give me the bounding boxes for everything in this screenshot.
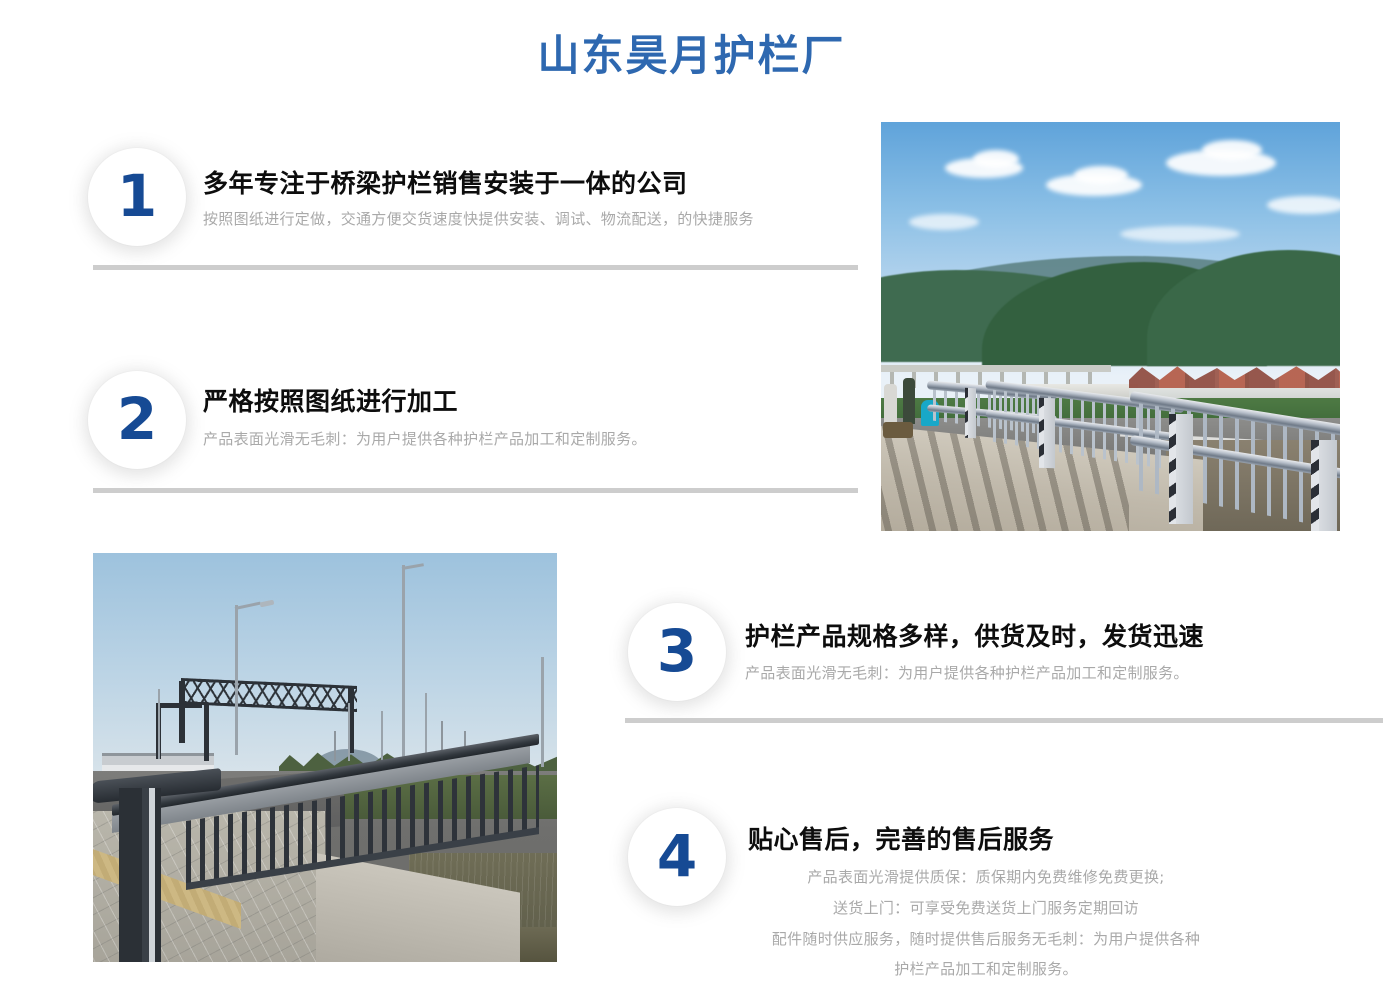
page-title: 山东昊月护栏厂 (0, 31, 1383, 81)
feature-badge-3: 3 (628, 603, 726, 701)
rail-post (965, 388, 976, 438)
person-figure (884, 384, 897, 424)
post-chevron-stripe (1311, 440, 1319, 531)
gantry-cross-brace (158, 703, 202, 708)
feature-badge-4: 4 (628, 808, 726, 906)
cloud-shape (1267, 196, 1340, 214)
street-lamp-pole (235, 605, 238, 755)
poster-root: 山东昊月护栏厂 (0, 0, 1383, 1000)
street-lamp-pole (425, 693, 427, 757)
railing-end-post (119, 788, 161, 962)
street-lamp-pole (158, 689, 160, 759)
feature-description-line: 护栏产品加工和定制服务。 (738, 954, 1234, 985)
gantry-leg (179, 681, 185, 743)
feature-number-4: 4 (657, 827, 697, 885)
person-figure (903, 378, 915, 424)
feature-headline-4: 贴心售后，完善的售后服务 (748, 820, 1054, 856)
feature-number-1: 1 (117, 167, 157, 225)
feature-number-3: 3 (657, 622, 697, 680)
street-lamp-pole (381, 711, 383, 761)
gantry-leg (204, 705, 209, 761)
feature-headline-1: 多年专注于桥梁护栏销售安装于一体的公司 (203, 164, 688, 200)
feature-badge-2: 2 (88, 371, 186, 469)
feature-headline-3: 护栏产品规格多样，供货及时，发货迅速 (745, 617, 1204, 653)
feature-description-line: 送货上门：可享受免费送货上门服务定期回访 (738, 893, 1234, 924)
feature-badge-1: 1 (88, 148, 186, 246)
feature-description-line: 配件随时供应服务，随时提供售后服务无毛刺：为用户提供各种 (738, 924, 1234, 955)
feature-headline-2: 严格按照图纸进行加工 (203, 382, 458, 418)
bridge-guardrail-mountain-photo (881, 122, 1340, 531)
post-chevron-stripe (965, 388, 968, 438)
cloud-shape (973, 150, 1019, 168)
post-chevron-stripe (1039, 398, 1044, 468)
feature-description-1: 按照图纸进行定做，交通方便交货速度快提供安装、调试、物流配送，的快捷服务 (203, 208, 754, 231)
rail-post (1311, 440, 1337, 531)
cloud-shape (1120, 226, 1240, 242)
divider-1 (93, 265, 858, 270)
cloud-shape (1074, 166, 1128, 184)
cloud-shape (1202, 140, 1262, 160)
divider-2 (93, 488, 858, 493)
feature-description-3: 产品表面光滑无毛刺：为用户提供各种护栏产品加工和定制服务。 (745, 662, 1189, 685)
rail-post (1039, 398, 1055, 469)
feature-description-line: 产品表面光滑提供质保：质保期内免费维修免费更换; (738, 862, 1234, 893)
cloud-shape (909, 214, 979, 230)
power-pylon (334, 731, 336, 761)
street-lamp-pole (402, 565, 405, 761)
bridge-railing-river-photo (93, 553, 557, 962)
street-lamp-pole (348, 703, 350, 761)
feature-number-2: 2 (117, 390, 157, 448)
divider-3 (625, 718, 1383, 723)
distant-viaduct (881, 365, 1111, 372)
feature-description-4: 产品表面光滑提供质保：质保期内免费维修免费更换; 送货上门：可享受免费送货上门服… (738, 862, 1234, 985)
post-chevron-stripe (1169, 414, 1176, 524)
feature-description-2: 产品表面光滑无毛刺：为用户提供各种护栏产品加工和定制服务。 (203, 428, 647, 451)
rail-post (1169, 414, 1193, 524)
equipment-bag (883, 422, 913, 438)
street-lamp-pole (541, 657, 544, 767)
